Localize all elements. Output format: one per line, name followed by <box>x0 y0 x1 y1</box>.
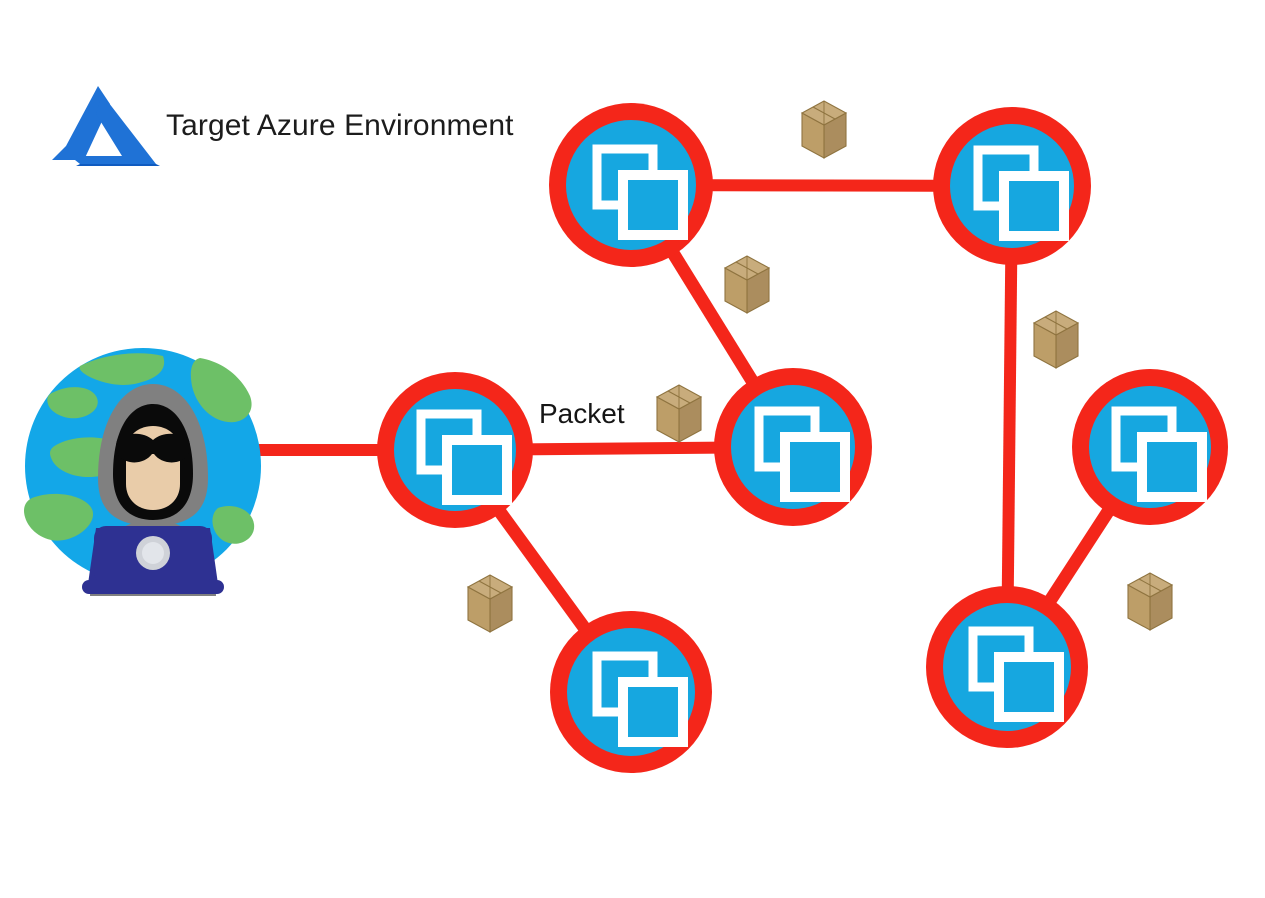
packet-icon <box>657 385 701 442</box>
node-center-right[interactable] <box>714 368 872 526</box>
packet-icon <box>468 575 512 632</box>
node-right-middle[interactable] <box>1072 369 1228 525</box>
packet-label: Packet <box>539 400 625 428</box>
azure-logo-icon <box>52 84 164 168</box>
node-top-center[interactable] <box>549 103 713 267</box>
packet-icon <box>1128 573 1172 630</box>
page-header: Target Azure Environment <box>52 84 514 168</box>
packet-icon <box>725 256 769 313</box>
node-top-right[interactable] <box>933 107 1091 265</box>
diagram-canvas: Target Azure Environment Packet <box>0 0 1265 898</box>
hacker-globe-icon <box>18 348 290 596</box>
node-layer <box>377 103 1228 773</box>
node-center-left[interactable] <box>377 372 533 528</box>
page-title: Target Azure Environment <box>166 111 514 141</box>
node-bottom-right[interactable] <box>926 586 1088 748</box>
node-bottom-center[interactable] <box>550 611 712 773</box>
packet-icon <box>1034 311 1078 368</box>
packet-icon <box>802 101 846 158</box>
